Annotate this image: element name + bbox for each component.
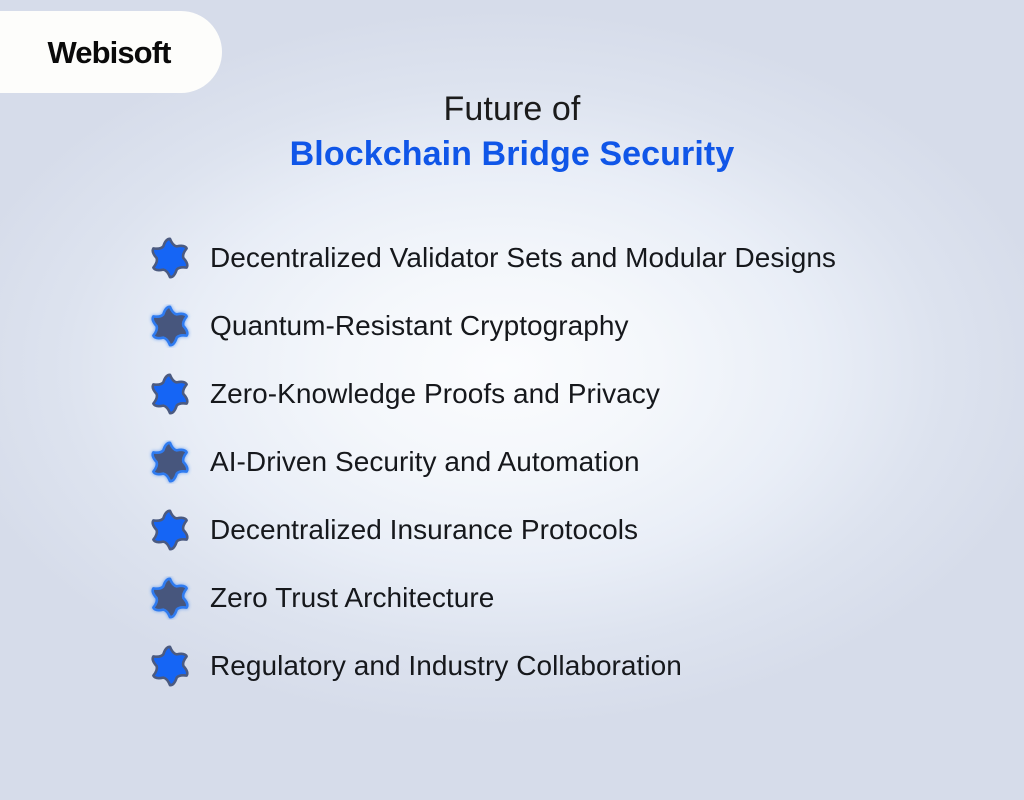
list-item-label: Decentralized Insurance Protocols bbox=[210, 514, 638, 546]
badge-icon-blue bbox=[148, 372, 192, 416]
list-item-label: Decentralized Validator Sets and Modular… bbox=[210, 242, 836, 274]
list-item-label: Zero-Knowledge Proofs and Privacy bbox=[210, 378, 660, 410]
list-item-label: AI-Driven Security and Automation bbox=[210, 446, 640, 478]
list-item-label: Quantum-Resistant Cryptography bbox=[210, 310, 629, 342]
badge-icon-blue bbox=[148, 508, 192, 552]
slide-canvas: Webisoft Future of Blockchain Bridge Sec… bbox=[0, 0, 1024, 800]
list-item: AI-Driven Security and Automation bbox=[148, 428, 1018, 496]
brand-logo-pill: Webisoft bbox=[0, 11, 222, 93]
list-item: Decentralized Validator Sets and Modular… bbox=[148, 224, 1018, 292]
badge-icon-dark bbox=[148, 440, 192, 484]
slide-title-line-2: Blockchain Bridge Security bbox=[0, 133, 1024, 176]
badge-icon-blue bbox=[148, 644, 192, 688]
list-item-label: Regulatory and Industry Collaboration bbox=[210, 650, 682, 682]
list-item: Quantum-Resistant Cryptography bbox=[148, 292, 1018, 360]
slide-title-line-1: Future of bbox=[0, 88, 1024, 131]
list-item: Zero Trust Architecture bbox=[148, 564, 1018, 632]
future-topics-list: Decentralized Validator Sets and Modular… bbox=[148, 224, 1018, 700]
list-item: Regulatory and Industry Collaboration bbox=[148, 632, 1018, 700]
slide-title: Future of Blockchain Bridge Security bbox=[0, 88, 1024, 176]
list-item-label: Zero Trust Architecture bbox=[210, 582, 494, 614]
badge-icon-blue bbox=[148, 236, 192, 280]
badge-icon-dark bbox=[148, 304, 192, 348]
badge-icon-dark bbox=[148, 576, 192, 620]
list-item: Decentralized Insurance Protocols bbox=[148, 496, 1018, 564]
brand-logo-text: Webisoft bbox=[47, 37, 170, 68]
list-item: Zero-Knowledge Proofs and Privacy bbox=[148, 360, 1018, 428]
